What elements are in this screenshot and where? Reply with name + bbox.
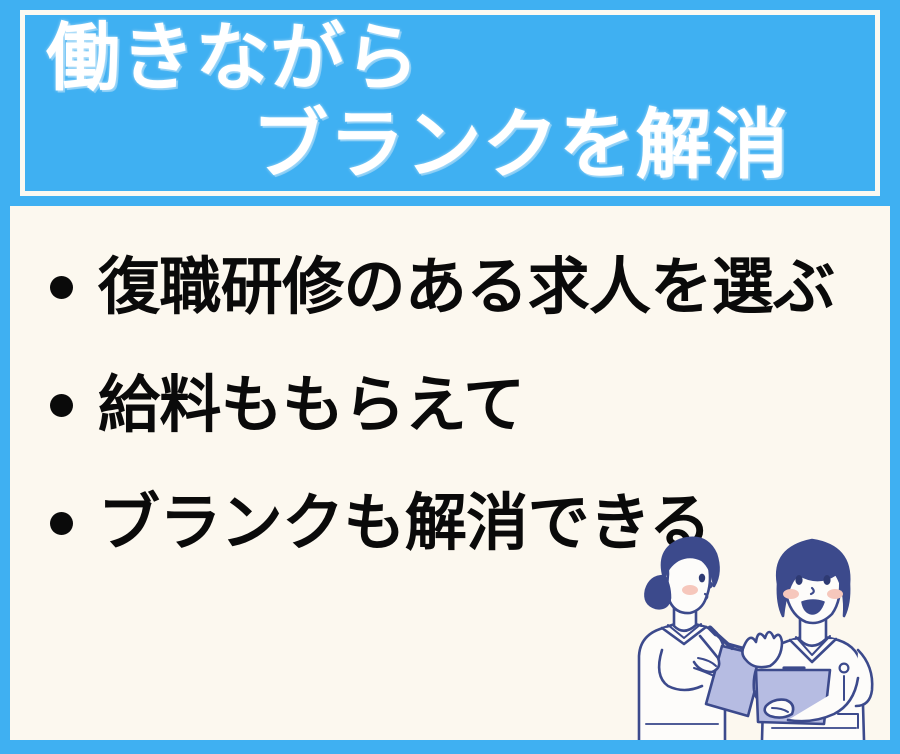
- nurse-left-with-clipboard: [639, 538, 764, 740]
- bullet-dot-icon: [50, 512, 73, 535]
- bullet-dot-icon: [50, 394, 73, 417]
- list-item-label: 復職研修のある求人を選ぶ: [98, 252, 882, 322]
- list-item: 復職研修のある求人を選ぶ: [32, 228, 882, 346]
- list-item: 給料ももらえて: [32, 346, 882, 464]
- poster-canvas: 働きながら ブランクを解消 復職研修のある求人を選ぶ 給料ももらえて ブランクも…: [0, 0, 900, 754]
- banner-text-group: 働きながら ブランクを解消: [0, 0, 900, 206]
- banner-headline-line-1: 働きながら: [46, 14, 420, 102]
- bullet-dot-icon: [50, 276, 73, 299]
- header-banner: 働きながら ブランクを解消: [0, 0, 900, 206]
- list-item-label: 給料ももらえて: [98, 370, 882, 440]
- banner-headline-line-2: ブランクを解消: [252, 100, 789, 190]
- two-nurses-illustration: [606, 528, 892, 740]
- nurse-right-gesturing: [742, 540, 872, 740]
